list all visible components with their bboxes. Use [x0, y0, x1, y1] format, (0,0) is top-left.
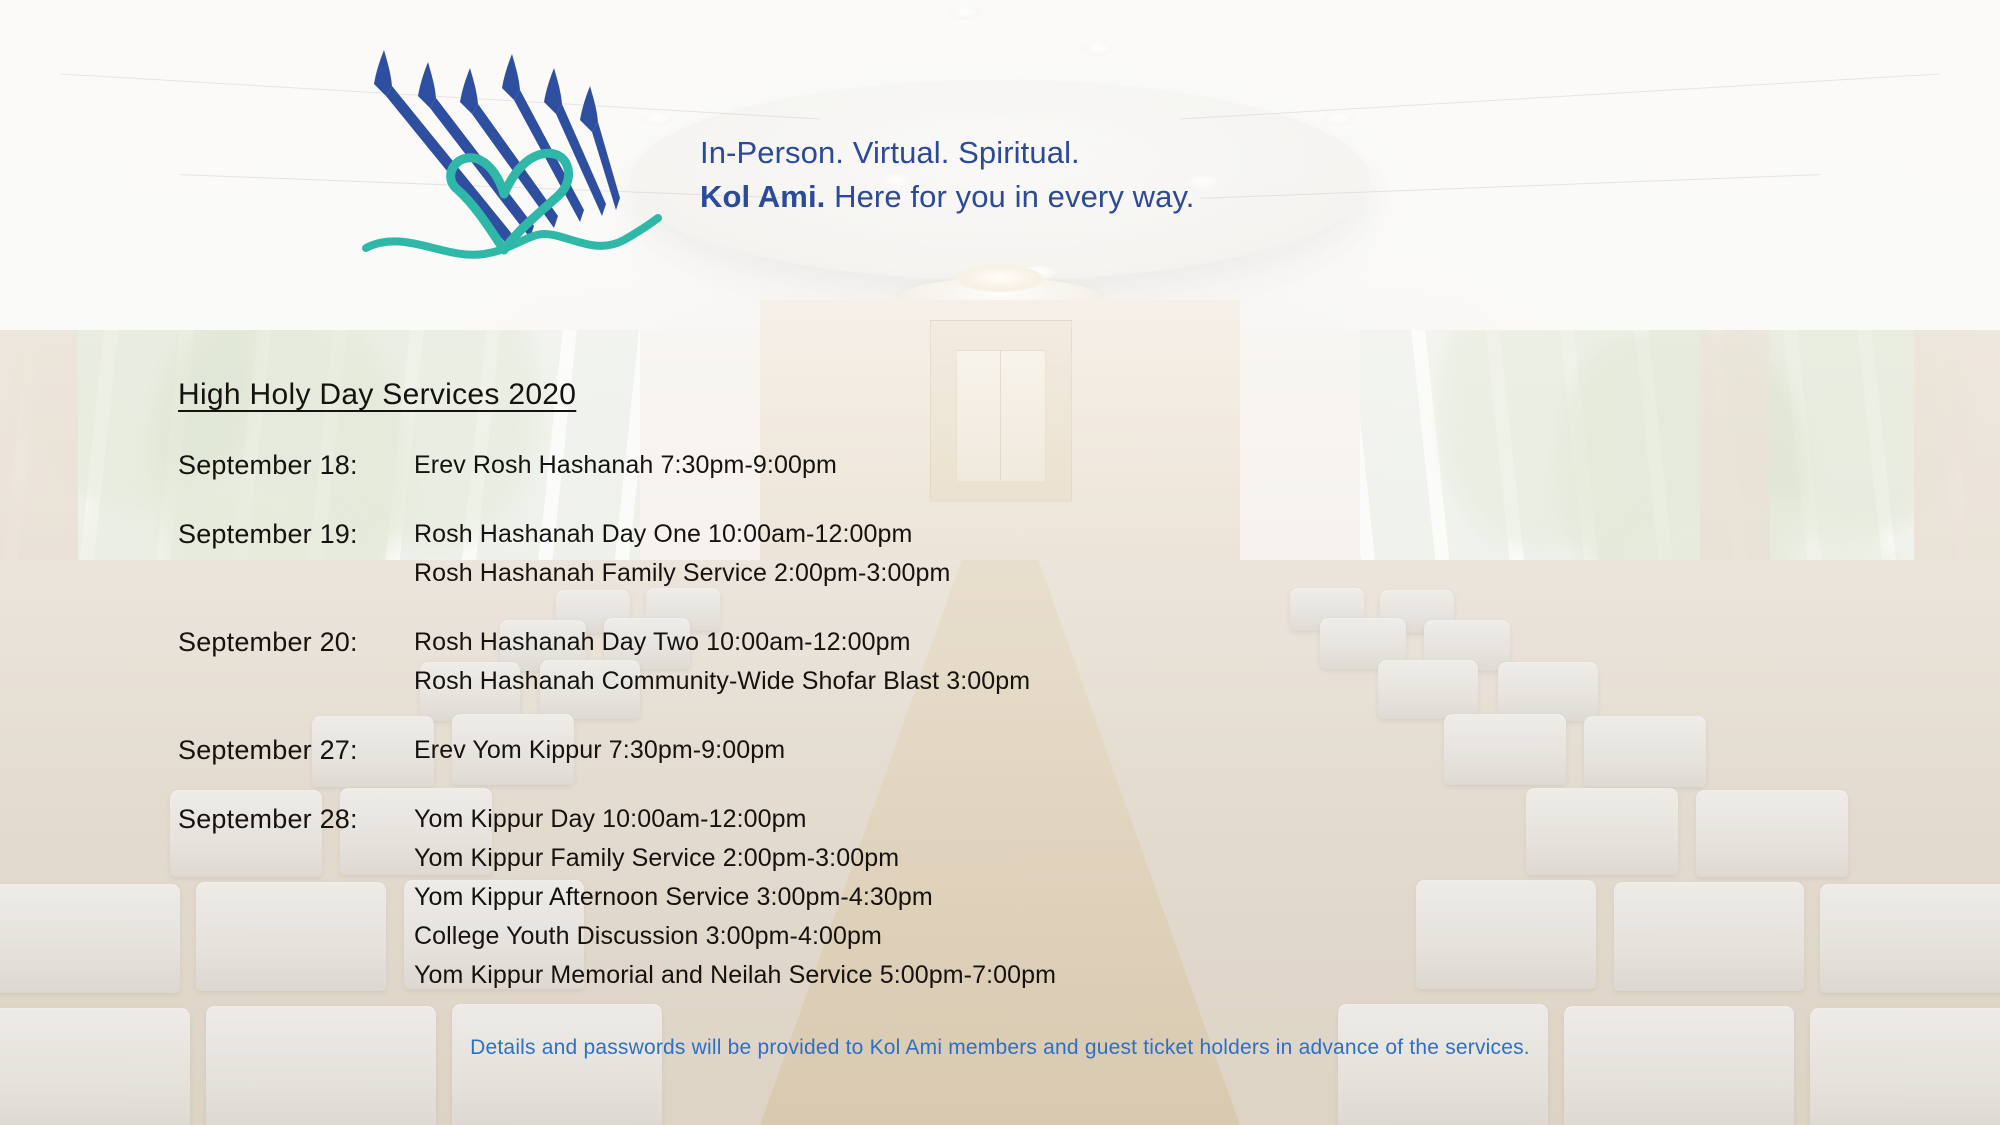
schedule-event: Yom Kippur Family Service 2:00pm-3:00pm: [414, 839, 1428, 878]
schedule-event: Rosh Hashanah Family Service 2:00pm-3:00…: [414, 554, 1428, 593]
schedule-title: High Holy Day Services 2020: [178, 378, 576, 412]
schedule-row: September 20: Rosh Hashanah Day Two 10:0…: [178, 623, 1428, 701]
schedule-event: Erev Yom Kippur 7:30pm-9:00pm: [414, 731, 1428, 770]
schedule-date: September 18:: [178, 446, 408, 485]
schedule-events: Erev Rosh Hashanah 7:30pm-9:00pm: [408, 446, 1428, 485]
tagline-brand: Kol Ami.: [700, 179, 825, 214]
schedule-event: Rosh Hashanah Day One 10:00am-12:00pm: [414, 515, 1428, 554]
schedule-event: Yom Kippur Memorial and Neilah Service 5…: [414, 956, 1428, 995]
schedule-events: Erev Yom Kippur 7:30pm-9:00pm: [408, 731, 1428, 770]
schedule-events: Rosh Hashanah Day Two 10:00am-12:00pm Ro…: [408, 623, 1428, 701]
tagline-line-2: Kol Ami. Here for you in every way.: [700, 177, 1520, 217]
schedule-row: September 18: Erev Rosh Hashanah 7:30pm-…: [178, 446, 1428, 485]
tagline-block: In-Person. Virtual. Spiritual. Kol Ami. …: [700, 133, 1520, 217]
schedule-event: College Youth Discussion 3:00pm-4:00pm: [414, 917, 1428, 956]
schedule-date: September 19:: [178, 515, 408, 554]
schedule-row: September 19: Rosh Hashanah Day One 10:0…: [178, 515, 1428, 593]
schedule-event: Yom Kippur Afternoon Service 3:00pm-4:30…: [414, 878, 1428, 917]
schedule-row: September 28: Yom Kippur Day 10:00am-12:…: [178, 800, 1428, 995]
tagline-line-1: In-Person. Virtual. Spiritual.: [700, 133, 1520, 173]
schedule-date: September 28:: [178, 800, 408, 839]
schedule-rows: September 18: Erev Rosh Hashanah 7:30pm-…: [178, 446, 1428, 995]
menorah-flame-icon: [374, 50, 512, 246]
tagline-line-2-rest: Here for you in every way.: [825, 179, 1194, 214]
high-holy-days-flyer: In-Person. Virtual. Spiritual. Kol Ami. …: [0, 0, 2000, 1125]
schedule-date: September 27:: [178, 731, 408, 770]
schedule-event: Yom Kippur Day 10:00am-12:00pm: [414, 800, 1428, 839]
schedule-row: September 27: Erev Yom Kippur 7:30pm-9:0…: [178, 731, 1428, 770]
schedule-date: September 20:: [178, 623, 408, 662]
schedule-event: Rosh Hashanah Day Two 10:00am-12:00pm: [414, 623, 1428, 662]
schedule-events: Yom Kippur Day 10:00am-12:00pm Yom Kippu…: [408, 800, 1428, 995]
schedule-block: High Holy Day Services 2020 September 18…: [178, 378, 1428, 1025]
flyer-content: In-Person. Virtual. Spiritual. Kol Ami. …: [0, 0, 2000, 1125]
kol-ami-logo: [362, 38, 662, 270]
schedule-event: Rosh Hashanah Community-Wide Shofar Blas…: [414, 662, 1428, 701]
schedule-event: Erev Rosh Hashanah 7:30pm-9:00pm: [414, 446, 1428, 485]
schedule-events: Rosh Hashanah Day One 10:00am-12:00pm Ro…: [408, 515, 1428, 593]
footer-note: Details and passwords will be provided t…: [0, 1036, 2000, 1060]
